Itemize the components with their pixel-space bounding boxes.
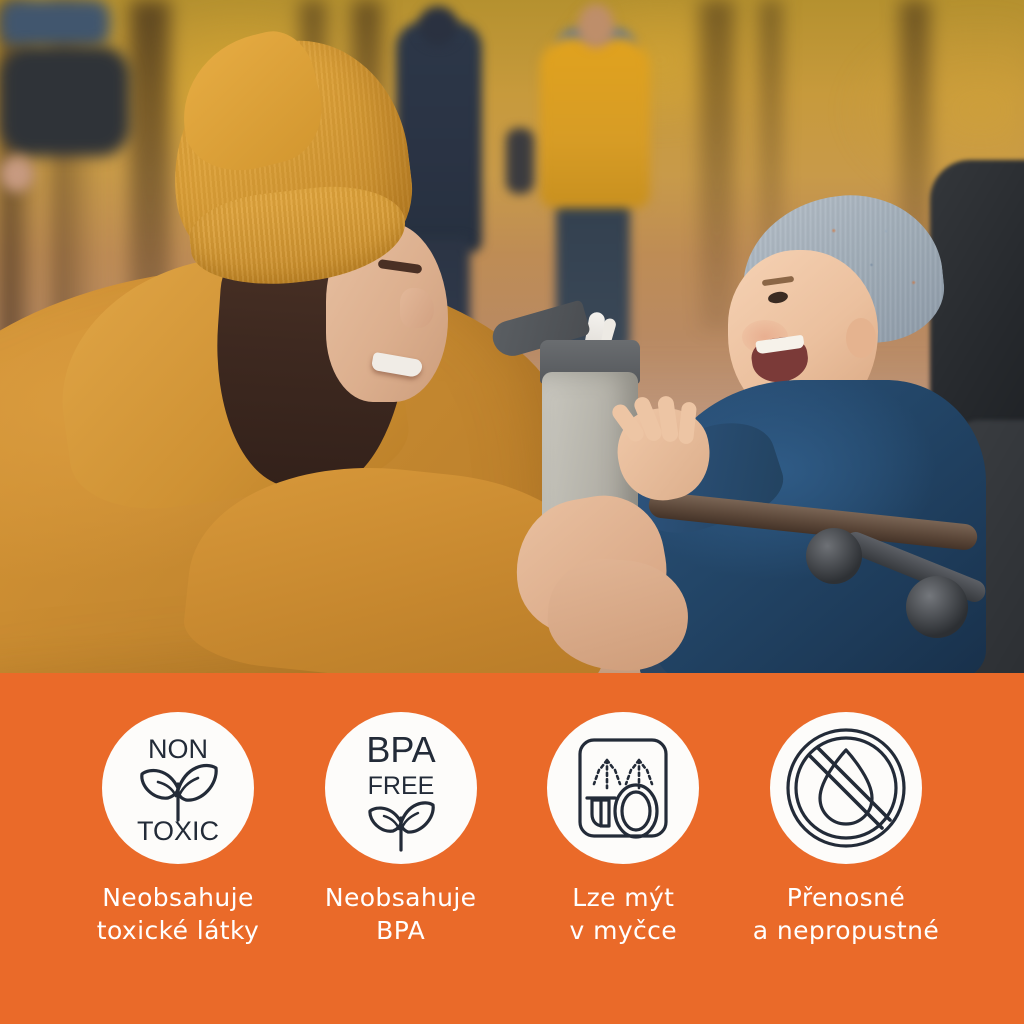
feature-caption: Neobsahuje BPA: [325, 881, 477, 948]
background-walker-navy-head: [418, 6, 458, 46]
product-banner: NON TOXIC Neobsahuje toxické látky BPA: [0, 0, 1024, 1024]
badge-dishwasher-safe: [547, 712, 699, 864]
feature-bpa-free: BPA FREE Neobsahuje BPA: [301, 712, 501, 1024]
badge-text-bottom: FREE: [367, 772, 434, 800]
dishwasher-icon: [547, 712, 699, 864]
feature-caption: Lze mýt v myčce: [570, 881, 678, 948]
background-sitting-person: [0, 46, 130, 156]
leaf-sprout-icon: NON TOXIC: [102, 712, 254, 864]
feature-list: NON TOXIC Neobsahuje toxické látky BPA: [0, 673, 1024, 1024]
feature-leak-proof: Přenosné a nepropustné: [746, 712, 946, 1024]
leaf-sprout-icon: BPA FREE: [325, 712, 477, 864]
feature-caption: Přenosné a nepropustné: [753, 881, 939, 948]
no-leak-droplet-icon: [770, 712, 922, 864]
badge-bpa-free: BPA FREE: [325, 712, 477, 864]
badge-text-top: BPA: [366, 729, 435, 770]
child-ear: [846, 318, 876, 358]
feature-caption: Neobsahuje toxické látky: [97, 881, 259, 948]
hero-photo: [0, 0, 1024, 673]
badge-text-bottom: TOXIC: [137, 816, 219, 846]
feature-dishwasher-safe: Lze mýt v myčce: [523, 712, 723, 1024]
background-walker-navy: [396, 22, 482, 252]
badge-text-top: NON: [148, 734, 208, 764]
mother-nose: [400, 288, 434, 328]
background-walker-yellow: [540, 38, 650, 208]
background-walker-yellow-head: [578, 4, 614, 48]
background-walker-distant: [506, 128, 534, 194]
background-sitting-person-head: [0, 156, 34, 192]
feature-band: NON TOXIC Neobsahuje toxické látky BPA: [0, 673, 1024, 1024]
badge-non-toxic: NON TOXIC: [102, 712, 254, 864]
background-sitting-person-legs: [0, 0, 110, 46]
badge-leak-proof: [770, 712, 922, 864]
feature-non-toxic: NON TOXIC Neobsahuje toxické látky: [78, 712, 278, 1024]
stroller-joint: [806, 528, 862, 584]
stroller-wheel-joint: [906, 576, 968, 638]
